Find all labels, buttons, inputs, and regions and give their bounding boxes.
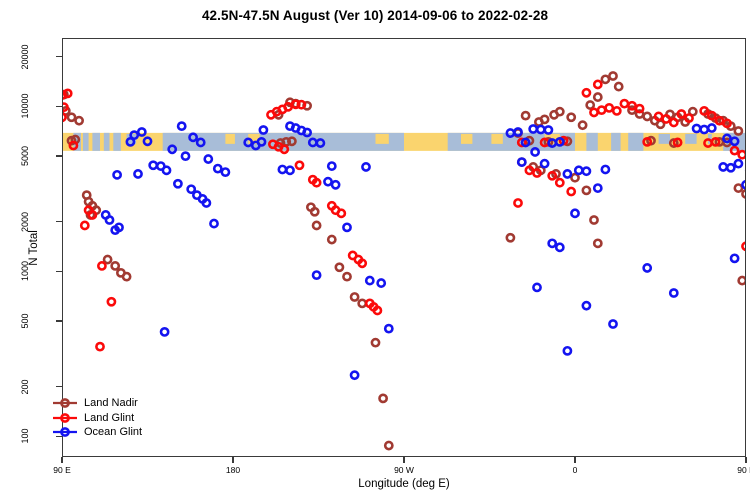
data-point: [556, 244, 563, 251]
data-point: [351, 293, 358, 300]
y-tick-label: 2000: [20, 197, 30, 247]
ocean-mask-segment: [628, 133, 643, 151]
data-point: [114, 171, 121, 178]
data-point: [351, 372, 358, 379]
y-tick-mark: [56, 56, 62, 57]
y-tick-label: 100: [20, 411, 30, 461]
data-point: [374, 307, 381, 314]
data-point: [279, 166, 286, 173]
data-point: [594, 184, 601, 191]
data-point: [89, 211, 96, 218]
data-point: [735, 160, 742, 167]
data-point: [609, 320, 616, 327]
data-point: [359, 260, 366, 267]
data-point: [636, 105, 643, 112]
data-point: [336, 264, 343, 271]
data-point: [68, 114, 75, 121]
ocean-mask-segment: [113, 133, 121, 151]
data-point: [324, 178, 331, 185]
x-tick-label: 180: [207, 465, 259, 475]
y-tick-mark: [56, 106, 62, 107]
x-tick-label: 90 W: [378, 465, 430, 475]
data-point: [507, 234, 514, 241]
legend-marker-icon: [52, 411, 78, 425]
data-point: [106, 216, 113, 223]
data-point: [708, 124, 715, 131]
data-point: [222, 169, 229, 176]
data-point: [372, 339, 379, 346]
data-point: [385, 442, 392, 449]
coastline-detail: [151, 134, 161, 144]
data-point: [522, 112, 529, 119]
x-tick-label: 90 E: [720, 465, 750, 475]
data-point: [285, 103, 292, 110]
data-point: [609, 72, 616, 79]
data-point: [378, 279, 385, 286]
legend-item-land-glint[interactable]: Land Glint: [52, 411, 142, 426]
data-point: [535, 118, 542, 125]
data-point: [568, 188, 575, 195]
data-point: [296, 162, 303, 169]
data-point: [108, 298, 115, 305]
data-point: [76, 117, 83, 124]
data-point: [568, 114, 575, 121]
legend-marker-icon: [52, 396, 78, 410]
data-point: [701, 126, 708, 133]
y-tick-mark: [56, 155, 62, 156]
chart-figure: 42.5N-47.5N August (Ver 10) 2014-09-06 t…: [0, 0, 750, 500]
x-axis-label: Longitude (deg E): [62, 478, 746, 490]
y-tick-mark: [56, 221, 62, 222]
data-point: [602, 166, 609, 173]
data-point: [138, 128, 145, 135]
y-tick-label: 10000: [20, 81, 30, 131]
data-point: [178, 123, 185, 130]
data-point: [526, 167, 533, 174]
data-point: [533, 284, 540, 291]
data-point: [594, 93, 601, 100]
y-tick-mark: [56, 271, 62, 272]
data-point: [556, 179, 563, 186]
ocean-mask-segment: [586, 133, 597, 151]
data-point: [655, 113, 662, 120]
data-point: [602, 76, 609, 83]
data-point: [343, 273, 350, 280]
data-point: [615, 83, 622, 90]
data-point: [644, 113, 651, 120]
series-land-nadir: [62, 72, 746, 449]
data-point: [123, 273, 130, 280]
legend-label: Ocean Glint: [84, 425, 142, 440]
data-point: [727, 164, 734, 171]
y-tick-label: 1000: [20, 246, 30, 296]
data-point: [304, 129, 311, 136]
data-point: [670, 119, 677, 126]
x-tick-mark: [232, 457, 233, 463]
data-point: [62, 114, 66, 121]
ocean-mask-segment: [104, 133, 110, 151]
y-tick-label: 20000: [20, 32, 30, 82]
data-point: [163, 167, 170, 174]
coastline-detail: [225, 134, 235, 144]
coastline-detail: [491, 134, 502, 144]
data-point: [742, 190, 746, 197]
series-ocean-glint: [102, 123, 746, 379]
data-point: [313, 222, 320, 229]
data-point: [587, 101, 594, 108]
coastline-detail: [461, 134, 472, 144]
data-point: [685, 115, 692, 122]
data-point: [514, 128, 521, 135]
data-point: [701, 107, 708, 114]
x-tick-mark: [574, 457, 575, 463]
data-point: [571, 210, 578, 217]
legend-marker-icon: [52, 425, 78, 439]
data-point: [594, 81, 601, 88]
data-point: [739, 151, 746, 158]
data-point: [537, 126, 544, 133]
ocean-mask-segment: [83, 133, 89, 151]
data-point: [343, 224, 350, 231]
plot-area: N Total: [62, 38, 746, 457]
legend-item-ocean-glint[interactable]: Ocean Glint: [52, 425, 142, 440]
data-point: [260, 126, 267, 133]
x-tick-mark: [403, 457, 404, 463]
data-point: [313, 272, 320, 279]
y-tick-label: 200: [20, 362, 30, 412]
data-point: [385, 325, 392, 332]
coastline-detail: [376, 134, 389, 144]
series-land-glint: [62, 81, 746, 350]
data-point: [203, 199, 210, 206]
data-point: [311, 208, 318, 215]
x-tick-label: 0: [549, 465, 601, 475]
data-point: [606, 104, 613, 111]
data-point: [720, 163, 727, 170]
x-tick-mark: [61, 457, 62, 463]
legend-label: Land Glint: [84, 411, 134, 426]
data-point: [98, 262, 105, 269]
data-point: [594, 240, 601, 247]
data-point: [104, 256, 111, 263]
coastline-detail: [659, 134, 670, 144]
data-point: [670, 289, 677, 296]
legend-item-land-nadir[interactable]: Land Nadir: [52, 396, 142, 411]
data-point: [332, 181, 339, 188]
data-point: [678, 110, 685, 117]
data-point: [644, 264, 651, 271]
data-point: [328, 236, 335, 243]
ocean-mask-segment: [92, 133, 100, 151]
data-point: [621, 100, 628, 107]
data-point: [549, 240, 556, 247]
data-point: [532, 148, 539, 155]
data-point: [205, 155, 212, 162]
data-point: [575, 167, 582, 174]
data-point: [735, 184, 742, 191]
data-point: [134, 170, 141, 177]
x-tick-mark: [745, 457, 746, 463]
data-point: [583, 89, 590, 96]
data-point: [530, 125, 537, 132]
data-point: [518, 158, 525, 165]
data-point: [514, 199, 521, 206]
data-point: [742, 243, 746, 250]
y-tick-label: 5000: [20, 131, 30, 181]
data-point: [742, 181, 746, 188]
data-point: [150, 162, 157, 169]
data-point: [362, 163, 369, 170]
data-point: [286, 167, 293, 174]
data-point: [663, 115, 670, 122]
y-tick-label: 500: [20, 296, 30, 346]
legend: Land NadirLand GlintOcean Glint: [52, 396, 142, 440]
data-point: [564, 170, 571, 177]
x-tick-label: 90 E: [36, 465, 88, 475]
data-point: [214, 165, 221, 172]
data-point: [613, 107, 620, 114]
data-point: [174, 180, 181, 187]
data-point: [298, 101, 305, 108]
data-point: [541, 160, 548, 167]
data-point: [545, 126, 552, 133]
data-point: [731, 255, 738, 262]
data-point: [112, 262, 119, 269]
data-point: [598, 107, 605, 114]
data-point: [579, 122, 586, 129]
data-point: [551, 111, 558, 118]
chart-title: 42.5N-47.5N August (Ver 10) 2014-09-06 t…: [0, 8, 750, 23]
y-tick-mark: [56, 320, 62, 321]
data-point: [583, 187, 590, 194]
data-point: [739, 277, 746, 284]
data-point: [210, 220, 217, 227]
data-point: [590, 216, 597, 223]
data-point: [161, 328, 168, 335]
data-point: [583, 168, 590, 175]
data-point: [693, 125, 700, 132]
data-point: [366, 277, 373, 284]
scatter-canvas: [62, 38, 746, 457]
data-point: [81, 222, 88, 229]
data-point: [735, 127, 742, 134]
data-point: [590, 109, 597, 116]
legend-label: Land Nadir: [84, 396, 138, 411]
y-tick-mark: [56, 386, 62, 387]
data-point: [564, 347, 571, 354]
data-point: [182, 153, 189, 160]
data-point: [328, 162, 335, 169]
data-point: [359, 300, 366, 307]
data-point: [583, 302, 590, 309]
data-point: [571, 174, 578, 181]
data-point: [338, 210, 345, 217]
coastline-detail: [685, 134, 696, 144]
data-point: [380, 395, 387, 402]
data-point: [96, 343, 103, 350]
ocean-mask-segment: [611, 133, 621, 151]
